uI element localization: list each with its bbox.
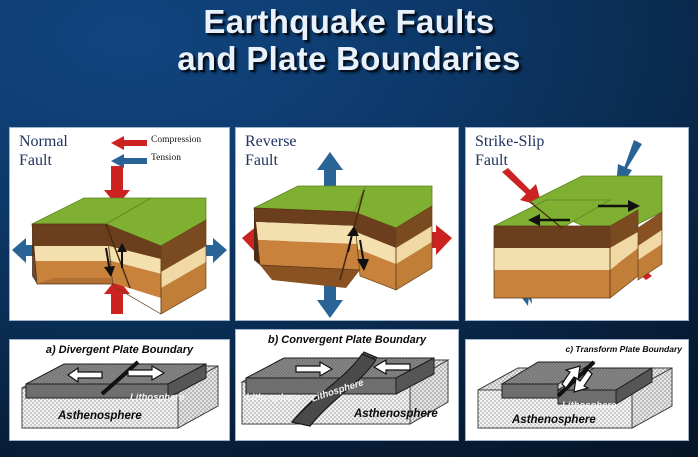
fault-label-strike-slip: Strike-Slip Fault	[475, 133, 544, 171]
title-line-1: Earthquake Faults	[0, 4, 698, 41]
left-block	[254, 186, 366, 288]
title-line-2: and Plate Boundaries	[0, 41, 698, 78]
panel-reverse-fault: Reverse Fault	[236, 128, 458, 320]
left-arrow-icon-tension	[111, 154, 147, 168]
transform-boundary-diagram	[466, 340, 688, 440]
slide-canvas: Earthquake Faults and Plate Boundaries N…	[0, 0, 698, 457]
page-title: Earthquake Faults and Plate Boundaries	[0, 4, 698, 78]
right-block	[354, 186, 432, 290]
convergent-boundary-diagram	[236, 330, 458, 440]
legend-label-tension: Tension	[151, 153, 181, 163]
fault-label-normal: Normal Fault	[19, 133, 68, 171]
panel-divergent-boundary: a) Divergent Plate Boundary	[10, 340, 229, 440]
legend-row-tension: Tension	[111, 152, 227, 170]
arrow-legend: Compression Tension	[111, 134, 227, 170]
caption-transform: c) Transform Plate Boundary	[466, 344, 688, 354]
legend-row-compression: Compression	[111, 134, 227, 152]
caption-divergent: a) Divergent Plate Boundary	[10, 344, 229, 356]
panel-normal-fault: Normal Fault Compression Tension	[10, 128, 229, 320]
left-arrow-icon-compression	[111, 136, 147, 150]
caption-convergent: b) Convergent Plate Boundary	[236, 334, 458, 346]
panel-transform-boundary: c) Transform Plate Boundary	[466, 340, 688, 440]
fault-label-reverse: Reverse Fault	[245, 133, 297, 171]
panel-strike-slip-fault: Strike-Slip Fault	[466, 128, 688, 320]
panel-convergent-boundary: b) Convergent Plate Boundary	[236, 330, 458, 440]
legend-label-compression: Compression	[151, 135, 201, 145]
